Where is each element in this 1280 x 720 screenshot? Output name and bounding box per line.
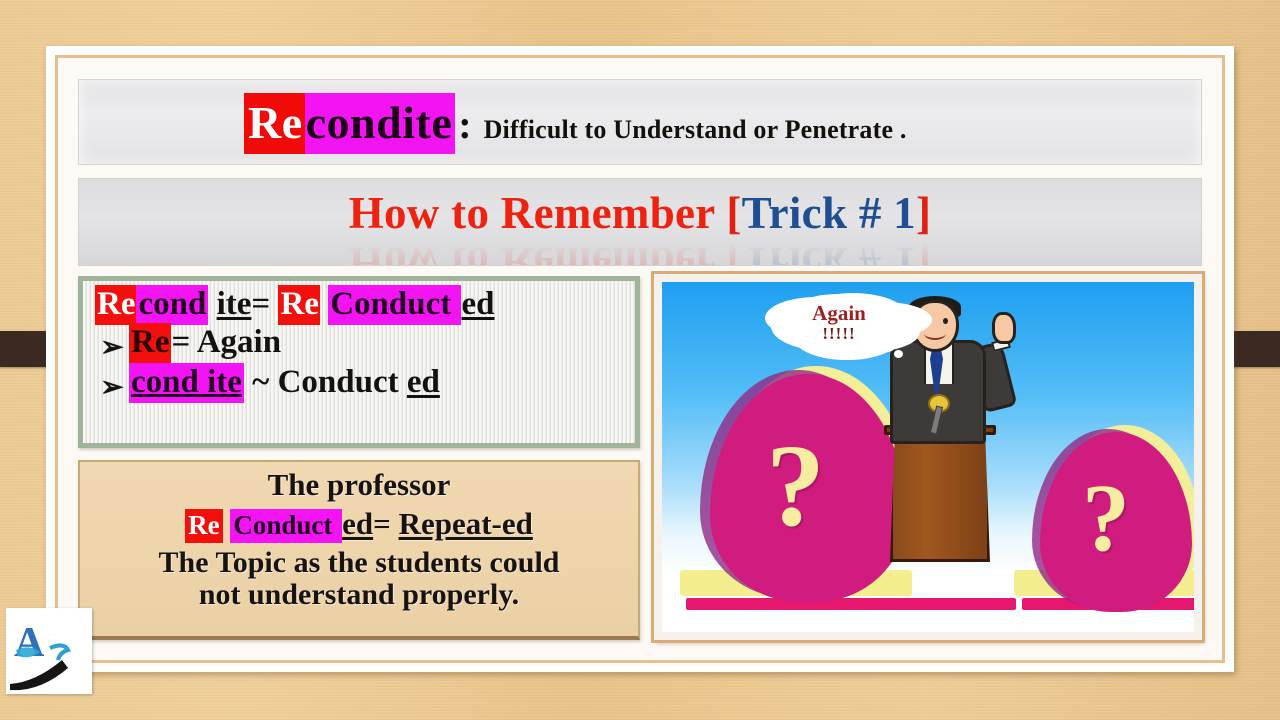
- bd2-re: Re: [129, 323, 171, 363]
- word-suffix-condite: condite: [305, 93, 456, 154]
- title-reflection: How to Remember [Trick # 1]: [79, 237, 1201, 266]
- bd1-ed: ed: [461, 286, 494, 322]
- title-reflection-trick: Trick # 1: [742, 238, 916, 266]
- sent-repeated: Repeat-ed: [399, 506, 533, 541]
- bd1-ite: ite: [217, 286, 252, 322]
- word-prefix-re: Re: [244, 93, 305, 154]
- bd1-conduct: Conduct: [328, 285, 461, 325]
- logo-icon: A: [6, 608, 92, 694]
- breakdown-line-1: Recond ite= Re Conduct ed: [95, 287, 635, 323]
- svg-text:A: A: [14, 620, 45, 666]
- speech-bubble-exclamations: !!!!!: [822, 325, 855, 342]
- question-mark-left: ?: [766, 418, 825, 554]
- bd3-ed: ed: [407, 364, 440, 400]
- speech-bubble-word: Again: [812, 303, 866, 324]
- sent-equals: =: [373, 506, 398, 541]
- bd1-equals: =: [251, 286, 278, 322]
- title-reflection-bracket-close: ]: [916, 238, 931, 266]
- channel-logo: A: [6, 608, 92, 694]
- speech-bubble: Again !!!!!: [780, 294, 898, 350]
- audience-head-right: ?: [1040, 432, 1192, 612]
- word-breakdown-inner: Recond ite= Re Conduct ed ➢Re= Again ➢co…: [83, 281, 635, 443]
- question-mark-right: ?: [1082, 462, 1130, 573]
- sent-ed: ed: [342, 506, 373, 541]
- sentence-line-1: The professor: [80, 469, 638, 502]
- speech-bubble-tail-small: [894, 350, 903, 358]
- speaker-smile: [924, 327, 946, 340]
- podium: [890, 430, 990, 562]
- speaker-face: [911, 300, 959, 352]
- how-to-remember-bar: How to Remember [Trick # 1] How to Remem…: [78, 178, 1202, 266]
- slide-content: Recondite:Difficult to Understand or Pen…: [68, 68, 1212, 650]
- title-bracket-close: ]: [916, 188, 931, 238]
- bd2-text: = Again: [171, 324, 281, 360]
- sentence-line-4: not understand properly.: [80, 579, 638, 611]
- speech-bubble-tail-large: [880, 340, 895, 352]
- title-reflection-main: How to Remember: [349, 238, 727, 266]
- bd3-tilde-conduct: ~ Conduct: [244, 364, 407, 400]
- sent-re: Re: [185, 509, 222, 543]
- bd1-re: Re: [95, 285, 136, 325]
- bd1-re2: Re: [278, 285, 319, 325]
- bd1-cond: cond: [136, 285, 208, 325]
- breakdown-line-2: ➢Re= Again: [95, 325, 635, 363]
- arrow-bullet-icon: ➢: [95, 373, 129, 403]
- arrow-bullet-icon: ➢: [95, 333, 129, 363]
- speaker-eye-right: [943, 318, 948, 324]
- audience-head-left: ?: [710, 374, 906, 602]
- word-definition-bar: Recondite:Difficult to Understand or Pen…: [78, 79, 1202, 165]
- speaker-hand: [992, 312, 1016, 344]
- word-line: Recondite:Difficult to Understand or Pen…: [244, 96, 907, 149]
- word-definition: Difficult to Understand or Penetrate .: [472, 115, 907, 144]
- title-reflection-bracket-open: [: [726, 238, 741, 266]
- professor-illustration: ? ? Again !!!!!: [654, 274, 1202, 640]
- sent-conduct: Conduct: [230, 509, 342, 543]
- sentence-line-2: Re Conduct ed= Repeat-ed: [80, 508, 638, 541]
- title-trick-label: Trick # 1: [742, 188, 916, 238]
- word-breakdown-panel: Recond ite= Re Conduct ed ➢Re= Again ➢co…: [78, 276, 640, 448]
- speaker-eye-left: [923, 318, 928, 324]
- example-sentence-panel: The professor Re Conduct ed= Repeat-ed T…: [78, 460, 640, 640]
- title-text: How to Remember [Trick # 1]: [79, 187, 1201, 239]
- breakdown-line-3: ➢cond ite ~ Conduct ed: [95, 365, 635, 403]
- bd3-condite: cond ite: [129, 363, 244, 403]
- title-bracket-open: [: [726, 188, 741, 238]
- sentence-line-3: The Topic as the students could: [80, 547, 638, 579]
- title-main-words: How to Remember: [349, 188, 727, 238]
- word-colon: :: [455, 102, 471, 147]
